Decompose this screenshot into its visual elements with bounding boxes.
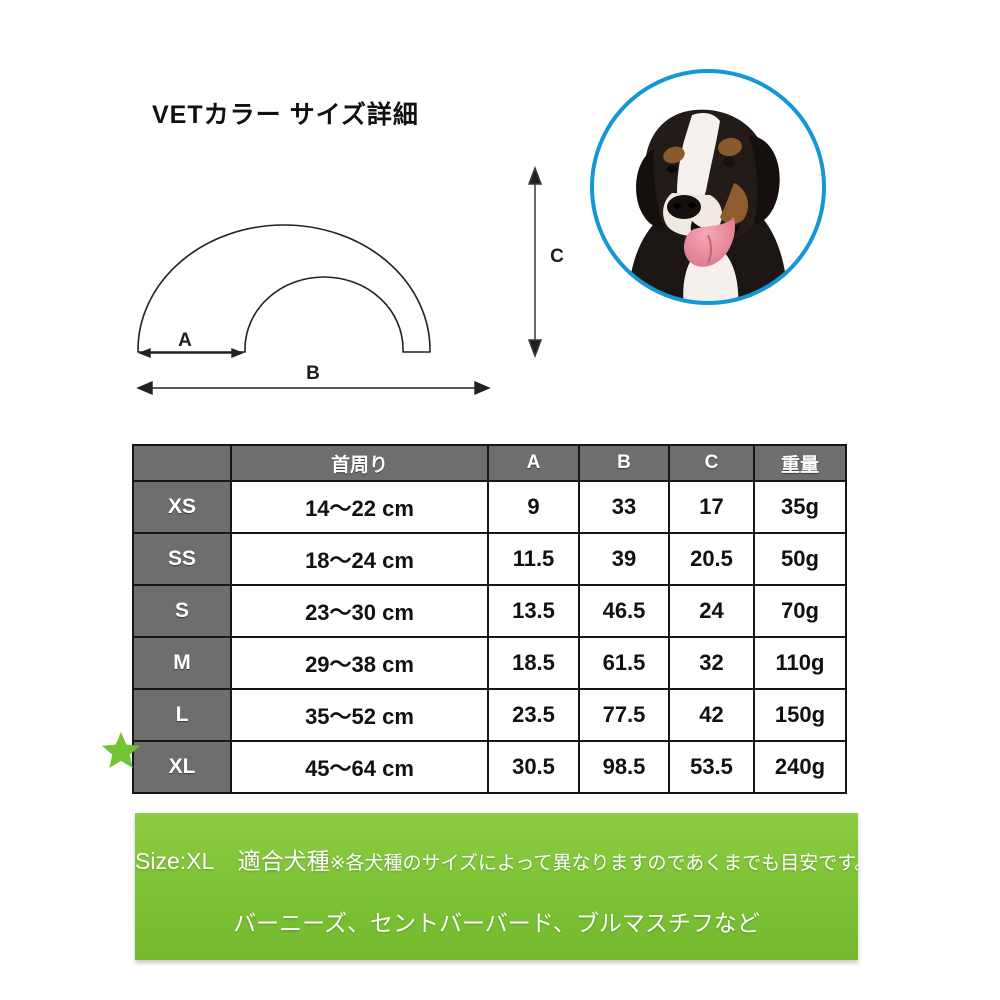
cell-c: 32 (669, 637, 754, 689)
column-header-neck: 首周り (231, 445, 488, 481)
cell-a: 11.5 (488, 533, 579, 585)
cell-a: 9 (488, 481, 579, 533)
dimension-a-label: A (178, 330, 192, 351)
cell-c: 17 (669, 481, 754, 533)
cell-b: 61.5 (579, 637, 669, 689)
cell-neck: 29〜38 cm (231, 637, 488, 689)
dimension-c-label: C (550, 246, 564, 267)
table-row: XL 45〜64 cm 30.5 98.5 53.5 240g (133, 741, 846, 793)
callout-note: ※各犬種のサイズによって異なりますのであくまでも目安です。 (330, 853, 874, 874)
cell-neck: 23〜30 cm (231, 585, 488, 637)
cell-c: 20.5 (669, 533, 754, 585)
cell-size: S (133, 585, 231, 637)
cell-weight: 240g (754, 741, 846, 793)
callout-breeds: バーニーズ、セントバーバード、ブルマスチフなど (135, 904, 858, 938)
cell-weight: 70g (754, 585, 846, 637)
page-title: VETカラー サイズ詳細 (152, 95, 419, 131)
cell-weight: 110g (754, 637, 846, 689)
callout-line-size-and-note: Size:XL 適合犬種※各犬種のサイズによって異なりますのであくまでも目安です… (135, 842, 858, 876)
cell-b: 39 (579, 533, 669, 585)
cell-weight: 50g (754, 533, 846, 585)
column-header-a: A (488, 445, 579, 481)
callout-size-label: Size:XL (135, 848, 214, 874)
vet-collar-diagram: A B C (110, 150, 590, 415)
breed-callout: Size:XL 適合犬種※各犬種のサイズによって異なりますのであくまでも目安です… (135, 813, 858, 960)
dog-photo (588, 67, 828, 307)
cell-a: 18.5 (488, 637, 579, 689)
cell-c: 24 (669, 585, 754, 637)
table-row: M 29〜38 cm 18.5 61.5 32 110g (133, 637, 846, 689)
table-row: S 23〜30 cm 13.5 46.5 24 70g (133, 585, 846, 637)
cell-neck: 14〜22 cm (231, 481, 488, 533)
table-row: XS 14〜22 cm 9 33 17 35g (133, 481, 846, 533)
cell-c: 42 (669, 689, 754, 741)
star-icon (100, 729, 142, 771)
dog-illustration (588, 67, 828, 307)
cell-size: L (133, 689, 231, 741)
column-header-c: C (669, 445, 754, 481)
cell-size: XL (133, 741, 231, 793)
cell-size: M (133, 637, 231, 689)
column-header-weight: 重量 (754, 445, 846, 481)
cell-a: 13.5 (488, 585, 579, 637)
table-header-row: 首周り A B C 重量 (133, 445, 846, 481)
cell-c: 53.5 (669, 741, 754, 793)
cell-b: 77.5 (579, 689, 669, 741)
callout-breed-label: 適合犬種 (238, 848, 330, 874)
cell-b: 33 (579, 481, 669, 533)
cell-weight: 150g (754, 689, 846, 741)
dimension-c-arrow (529, 168, 541, 356)
cell-b: 46.5 (579, 585, 669, 637)
column-header-size (133, 445, 231, 481)
cell-size: XS (133, 481, 231, 533)
table-row: SS 18〜24 cm 11.5 39 20.5 50g (133, 533, 846, 585)
cell-neck: 45〜64 cm (231, 741, 488, 793)
cell-a: 23.5 (488, 689, 579, 741)
table-row: L 35〜52 cm 23.5 77.5 42 150g (133, 689, 846, 741)
cell-size: SS (133, 533, 231, 585)
cell-b: 98.5 (579, 741, 669, 793)
cell-neck: 18〜24 cm (231, 533, 488, 585)
cell-neck: 35〜52 cm (231, 689, 488, 741)
size-table: 首周り A B C 重量 XS 14〜22 cm 9 33 17 35g SS … (132, 444, 847, 794)
cell-a: 30.5 (488, 741, 579, 793)
column-header-b: B (579, 445, 669, 481)
dimension-b-label: B (306, 363, 320, 384)
cell-weight: 35g (754, 481, 846, 533)
